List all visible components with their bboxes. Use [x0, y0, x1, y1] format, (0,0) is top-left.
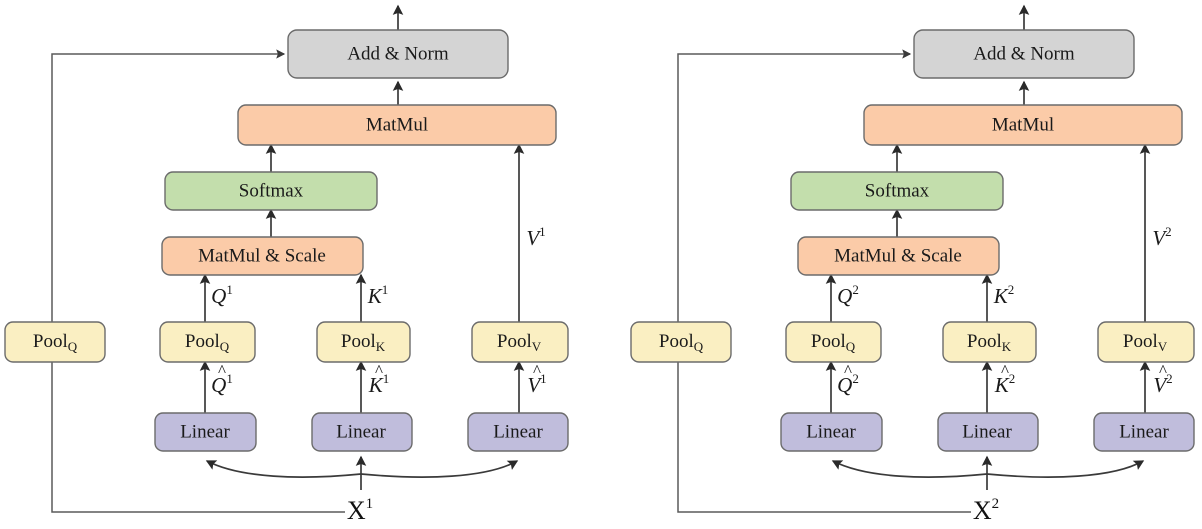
edge-label-k-hat-2: ^ K2	[994, 361, 1016, 397]
k-hat-1-base: K	[368, 373, 384, 397]
pool-q-2-sub: Q	[846, 339, 856, 354]
attention-block-diagram: Add & Norm MatMul Softmax MatMul & Scale…	[0, 0, 1202, 529]
block-pool-q-residual-2[interactable]: PoolQ	[631, 322, 731, 362]
block-softmax-2-label: Softmax	[865, 180, 930, 201]
input-label-x-2: X2	[973, 496, 999, 525]
branch-2-group: Add & Norm MatMul Softmax MatMul & Scale…	[631, 6, 1194, 525]
v-hat-2-sup: 2	[1166, 371, 1173, 386]
block-pool-k-1[interactable]: PoolK	[317, 322, 410, 362]
edge-label-q-1-sup: 1	[226, 282, 233, 297]
block-matmul-2-label: MatMul	[992, 114, 1054, 135]
q-hat-2-base: Q	[837, 373, 852, 397]
v-hat-1-sup: 1	[540, 371, 547, 386]
block-softmax-1-label: Softmax	[239, 180, 304, 201]
edge-label-k-2-sup: 2	[1008, 282, 1015, 297]
v-hat-1-text: V1	[527, 371, 546, 397]
k-hat-2-base: K	[994, 373, 1010, 397]
q-hat-2-text: Q2	[837, 371, 859, 397]
block-add-norm-1-label: Add & Norm	[347, 43, 449, 64]
block-pool-v-2[interactable]: PoolV	[1098, 322, 1194, 362]
edge-label-q-2: Q2	[837, 282, 859, 308]
block-linear-q-2[interactable]: Linear	[781, 413, 882, 451]
edge-label-v-hat-1: ^ V1	[527, 361, 546, 397]
input-label-x-1: X1	[347, 496, 373, 525]
block-add-norm-2[interactable]: Add & Norm	[914, 30, 1134, 78]
k-hat-2-text: K2	[994, 371, 1016, 397]
block-pool-k-2[interactable]: PoolK	[943, 322, 1036, 362]
pool-q-residual-2-sub: Q	[694, 339, 704, 354]
block-matmul-scale-2-label: MatMul & Scale	[834, 245, 962, 266]
block-linear-q-1[interactable]: Linear	[155, 413, 256, 451]
edge-x-to-linearv-1	[361, 461, 517, 477]
edge-x-to-linearv-2	[987, 461, 1143, 477]
block-linear-k-2[interactable]: Linear	[938, 413, 1038, 451]
edge-label-k-1-base: K	[367, 284, 383, 308]
edge-label-k-1-sup: 1	[382, 282, 389, 297]
block-add-norm-1[interactable]: Add & Norm	[288, 30, 508, 78]
edge-label-q-1: Q1	[211, 282, 233, 308]
pool-v-2-sub: V	[1158, 339, 1168, 354]
block-linear-k-2-label: Linear	[962, 421, 1012, 442]
block-matmul-1-label: MatMul	[366, 114, 428, 135]
edge-label-v-2-sup: 2	[1165, 224, 1172, 239]
edge-label-q-hat-1: ^ Q1	[211, 361, 233, 397]
block-pool-q-2[interactable]: PoolQ	[786, 322, 881, 362]
k-hat-1-sup: 1	[383, 371, 390, 386]
edge-label-q-2-base: Q	[837, 284, 852, 308]
pool-v-1-base: Pool	[497, 331, 532, 352]
pool-q-1-sub: Q	[220, 339, 230, 354]
block-pool-q-residual-1[interactable]: PoolQ	[5, 322, 105, 362]
block-linear-v-2-label: Linear	[1119, 421, 1169, 442]
branch-1-group: Add & Norm MatMul Softmax MatMul & Scale…	[5, 6, 568, 525]
input-label-x-1-sup: 1	[366, 496, 374, 512]
block-linear-k-1[interactable]: Linear	[312, 413, 412, 451]
edge-label-v-1-sup: 1	[539, 224, 546, 239]
pool-v-2-base: Pool	[1123, 331, 1158, 352]
edge-label-v-2: V2	[1152, 224, 1171, 250]
v-hat-2-text: V2	[1153, 371, 1172, 397]
q-hat-1-text: Q1	[211, 371, 233, 397]
block-matmul-scale-2[interactable]: MatMul & Scale	[798, 237, 999, 275]
block-add-norm-2-label: Add & Norm	[973, 43, 1075, 64]
edge-x-to-linearq-1	[207, 461, 361, 477]
edge-label-q-2-sup: 2	[852, 282, 859, 297]
block-matmul-scale-1-label: MatMul & Scale	[198, 245, 326, 266]
pool-q-2-base: Pool	[811, 331, 846, 352]
pool-k-2-sub: K	[1002, 339, 1012, 354]
edge-label-q-hat-2: ^ Q2	[837, 361, 859, 397]
pool-q-residual-1-sub: Q	[68, 339, 78, 354]
pool-q-residual-1-base: Pool	[33, 331, 68, 352]
pool-q-1-base: Pool	[185, 331, 220, 352]
q-hat-2-sup: 2	[852, 371, 859, 386]
block-linear-q-1-label: Linear	[180, 421, 230, 442]
block-linear-q-2-label: Linear	[806, 421, 856, 442]
block-matmul-2[interactable]: MatMul	[864, 105, 1182, 145]
k-hat-2-sup: 2	[1009, 371, 1016, 386]
pool-q-residual-2-base: Pool	[659, 331, 694, 352]
diagram-canvas: Add & Norm MatMul Softmax MatMul & Scale…	[0, 0, 1202, 529]
input-label-x-2-base: X	[973, 496, 992, 525]
block-matmul-scale-1[interactable]: MatMul & Scale	[162, 237, 363, 275]
block-linear-v-2[interactable]: Linear	[1094, 413, 1194, 451]
edge-label-k-1: K1	[367, 282, 389, 308]
q-hat-1-base: Q	[211, 373, 226, 397]
block-softmax-1[interactable]: Softmax	[165, 172, 377, 210]
block-linear-k-1-label: Linear	[336, 421, 386, 442]
k-hat-1-text: K1	[368, 371, 390, 397]
edge-label-v-hat-2: ^ V2	[1153, 361, 1172, 397]
input-label-x-2-sup: 2	[992, 496, 1000, 512]
block-matmul-1[interactable]: MatMul	[238, 105, 556, 145]
pool-k-1-sub: K	[376, 339, 386, 354]
block-linear-v-1[interactable]: Linear	[468, 413, 568, 451]
edge-label-k-2-base: K	[993, 284, 1009, 308]
edge-label-v-1: V1	[526, 224, 545, 250]
input-label-x-1-base: X	[347, 496, 366, 525]
pool-v-1-sub: V	[532, 339, 542, 354]
pool-k-2-base: Pool	[967, 331, 1002, 352]
block-pool-q-1[interactable]: PoolQ	[160, 322, 255, 362]
block-pool-v-1[interactable]: PoolV	[472, 322, 568, 362]
q-hat-1-sup: 1	[226, 371, 233, 386]
pool-k-1-base: Pool	[341, 331, 376, 352]
edge-label-k-2: K2	[993, 282, 1015, 308]
edge-label-k-hat-1: ^ K1	[368, 361, 390, 397]
edge-x-to-linearq-2	[833, 461, 987, 477]
block-softmax-2[interactable]: Softmax	[791, 172, 1003, 210]
block-linear-v-1-label: Linear	[493, 421, 543, 442]
edge-label-q-1-base: Q	[211, 284, 226, 308]
